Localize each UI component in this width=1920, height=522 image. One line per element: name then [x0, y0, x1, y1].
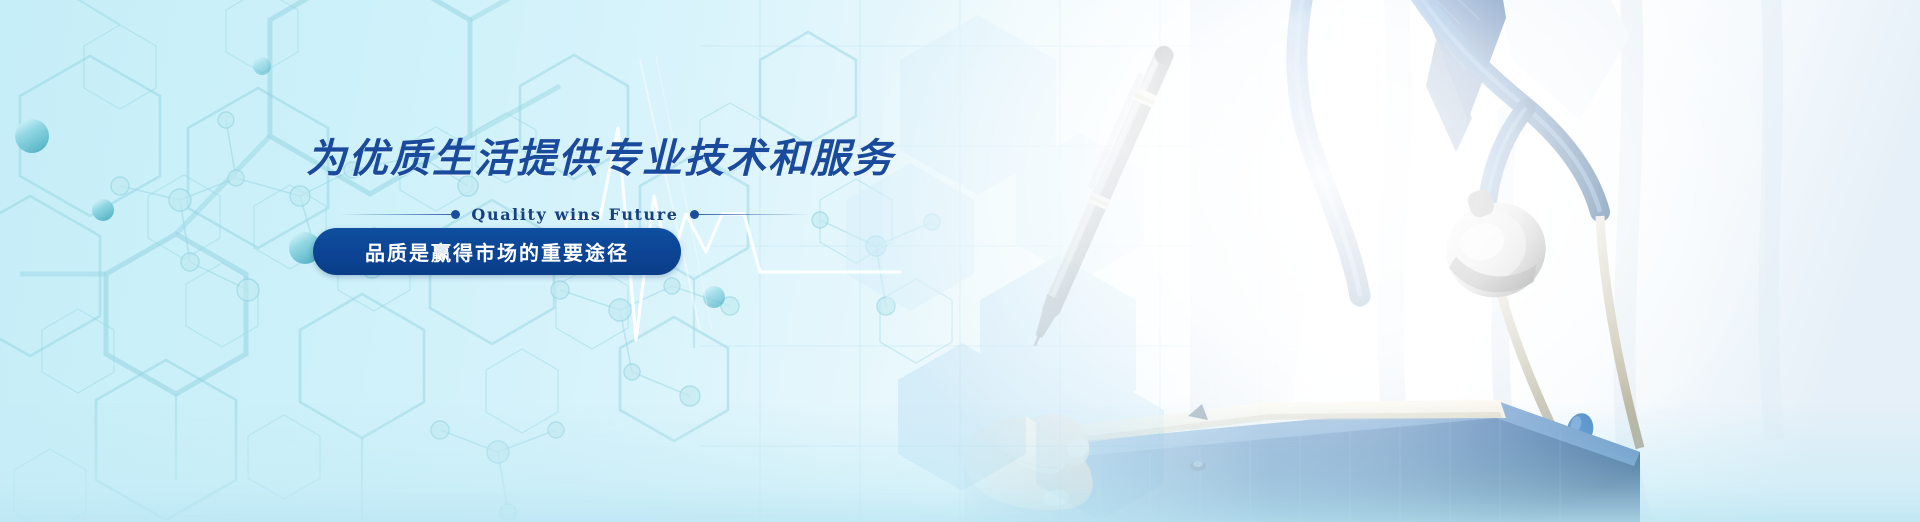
medical-hero-banner: 为优质生活提供专业技术和服务 Quality wins Future 品质是赢得… [0, 0, 1920, 522]
banner-content: 为优质生活提供专业技术和服务 Quality wins Future 品质是赢得… [0, 0, 920, 522]
subtitle-rule-left [340, 214, 451, 215]
banner-subtitle-en: Quality wins Future [460, 205, 689, 224]
banner-tagline-pill[interactable]: 品质是赢得市场的重要途径 [313, 228, 681, 275]
subtitle-dot-left [451, 210, 460, 219]
banner-tagline-label: 品质是赢得市场的重要途径 [365, 237, 629, 266]
subtitle-rule-right [699, 214, 810, 215]
subtitle-dot-right [690, 210, 699, 219]
banner-subtitle-row: Quality wins Future [340, 203, 810, 225]
banner-headline: 为优质生活提供专业技术和服务 [306, 126, 894, 184]
